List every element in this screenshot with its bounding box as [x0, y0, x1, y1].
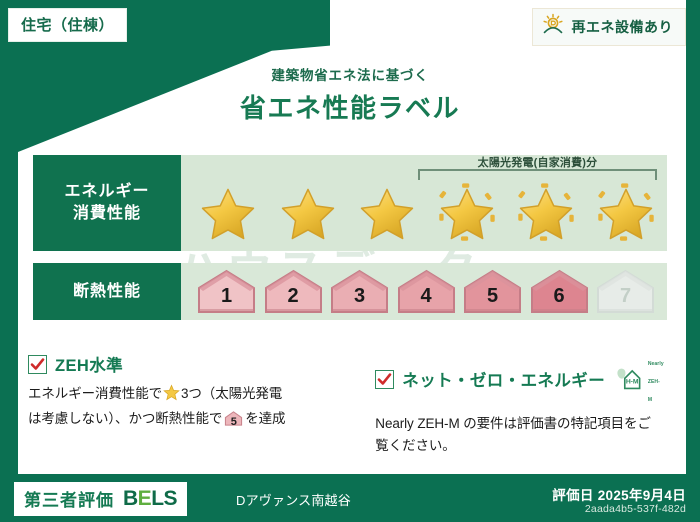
solar-annotation-label: 太陽光発電(自家消費)分	[414, 154, 661, 170]
building-name: Dアヴァンス南越谷	[236, 490, 351, 509]
insulation-grade-number: 3	[328, 285, 391, 308]
zeh-desc-part4: を達成	[245, 411, 285, 426]
energy-performance-value: 太陽光発電(自家消費)分	[181, 155, 667, 251]
insulation-grade-badge: 5	[224, 410, 243, 434]
insulation-performance-value: 1234567	[181, 263, 667, 320]
zeh-level-header: ZEH水準	[28, 352, 340, 376]
star-icon	[513, 180, 579, 246]
insulation-grade-value: 5	[224, 414, 243, 432]
star-icon	[434, 180, 500, 246]
solar-sun-icon	[541, 13, 565, 40]
bels-certification-chip: 第三者評価 BELS	[14, 482, 187, 516]
insulation-grade-marker: 7	[594, 268, 657, 316]
insulation-grade-marker: 3	[328, 268, 391, 316]
insulation-grade-marker: 5	[461, 268, 524, 316]
label-heading: 建築物省エネ法に基づく 省エネ性能ラベル	[0, 64, 700, 125]
zeh-desc-part3: は考慮しない）、かつ断熱性能で	[28, 411, 222, 426]
bels-logo: BELS	[123, 487, 177, 511]
bels-letters-ls: LS	[151, 487, 177, 510]
zeh-desc-part2: 3つ（太陽光発電	[181, 386, 282, 401]
insulation-grade-number: 2	[262, 285, 325, 308]
nearly-zeh-m-logo: H-M Nearly ZEH-M	[616, 352, 664, 406]
bels-third-party-label: 第三者評価	[24, 486, 114, 511]
zehm-caption-line2: ZEH-M	[648, 379, 660, 403]
insulation-grade-number: 4	[395, 285, 458, 308]
bels-letter-e: E	[138, 487, 152, 510]
energy-key-line2: 消費性能	[73, 203, 141, 225]
renewable-equipment-badge: 再エネ設備あり	[532, 8, 687, 46]
bels-letter-b: B	[123, 487, 138, 510]
star-icon	[163, 384, 180, 408]
energy-performance-label: 住宅（住棟） 再エネ設備あり 建築物省エネ法に基づく 省エネ性能ラベル ハウ	[0, 0, 700, 522]
star-icon	[275, 180, 341, 246]
evaluation-id: 2aada4b5-537f-482d	[585, 503, 686, 515]
net-zero-energy-description: Nearly ZEH-M の要件は評価書の特記項目をご覧ください。	[375, 413, 664, 457]
energy-performance-label-key: エネルギー 消費性能	[33, 155, 181, 251]
zehm-caption-line1: Nearly	[648, 361, 664, 367]
insulation-grade-number: 5	[461, 285, 524, 308]
net-zero-energy-panel: ネット・ゼロ・エネルギー H-M Nearly ZEH-M Nearly ZEH…	[348, 352, 672, 456]
net-zero-energy-header: ネット・ゼロ・エネルギー H-M Nearly ZEH-M	[375, 352, 664, 406]
building-type-chip: 住宅（住棟）	[8, 8, 127, 42]
insulation-performance-label-key: 断熱性能	[33, 263, 181, 320]
star-icon	[354, 180, 420, 246]
svg-text:H-M: H-M	[626, 379, 639, 386]
zeh-level-panel: ZEH水準 エネルギー消費性能で3つ（太陽光発電は考慮しない）、かつ断熱性能で5…	[28, 352, 348, 456]
energy-key-line1: エネルギー	[64, 181, 149, 203]
star-icon	[195, 180, 261, 246]
energy-performance-row: エネルギー 消費性能 太陽光発電(自家消費)分	[33, 155, 667, 251]
label-footer: 第三者評価 BELS Dアヴァンス南越谷 評価日 2025年9月4日 2aada…	[0, 474, 700, 522]
label-sub-heading: 建築物省エネ法に基づく	[0, 64, 700, 84]
insulation-grade-marker: 6	[528, 268, 591, 316]
zeh-desc-part1: エネルギー消費性能で	[28, 386, 162, 401]
evaluation-date: 評価日 2025年9月4日	[552, 484, 686, 504]
insulation-grade-marker: 1	[195, 268, 258, 316]
zeh-level-title: ZEH水準	[55, 352, 123, 376]
insulation-grade-number: 6	[528, 285, 591, 308]
energy-star-rating	[195, 177, 659, 248]
insulation-grade-number: 1	[195, 285, 258, 308]
label-main-heading: 省エネ性能ラベル	[0, 88, 700, 125]
insulation-grade-marker: 2	[262, 268, 325, 316]
renewable-badge-label: 再エネ設備あり	[572, 17, 674, 37]
insulation-grade-number: 7	[594, 285, 657, 308]
insulation-key-line1: 断熱性能	[73, 281, 141, 303]
criteria-panels: ZEH水準 エネルギー消費性能で3つ（太陽光発電は考慮しない）、かつ断熱性能で5…	[28, 352, 672, 456]
star-icon	[593, 180, 659, 246]
insulation-grade-marker: 4	[395, 268, 458, 316]
solar-generation-annotation: 太陽光発電(自家消費)分	[414, 155, 661, 179]
insulation-house-rating: 1234567	[195, 268, 657, 316]
zeh-level-description: エネルギー消費性能で3つ（太陽光発電は考慮しない）、かつ断熱性能で5を達成	[28, 383, 340, 434]
net-zero-energy-title: ネット・ゼロ・エネルギー	[402, 367, 605, 391]
insulation-performance-row: 断熱性能 1234567	[33, 263, 667, 320]
check-icon	[28, 355, 47, 374]
nearly-zeh-m-caption: Nearly ZEH-M	[648, 352, 664, 406]
check-icon	[375, 370, 394, 389]
